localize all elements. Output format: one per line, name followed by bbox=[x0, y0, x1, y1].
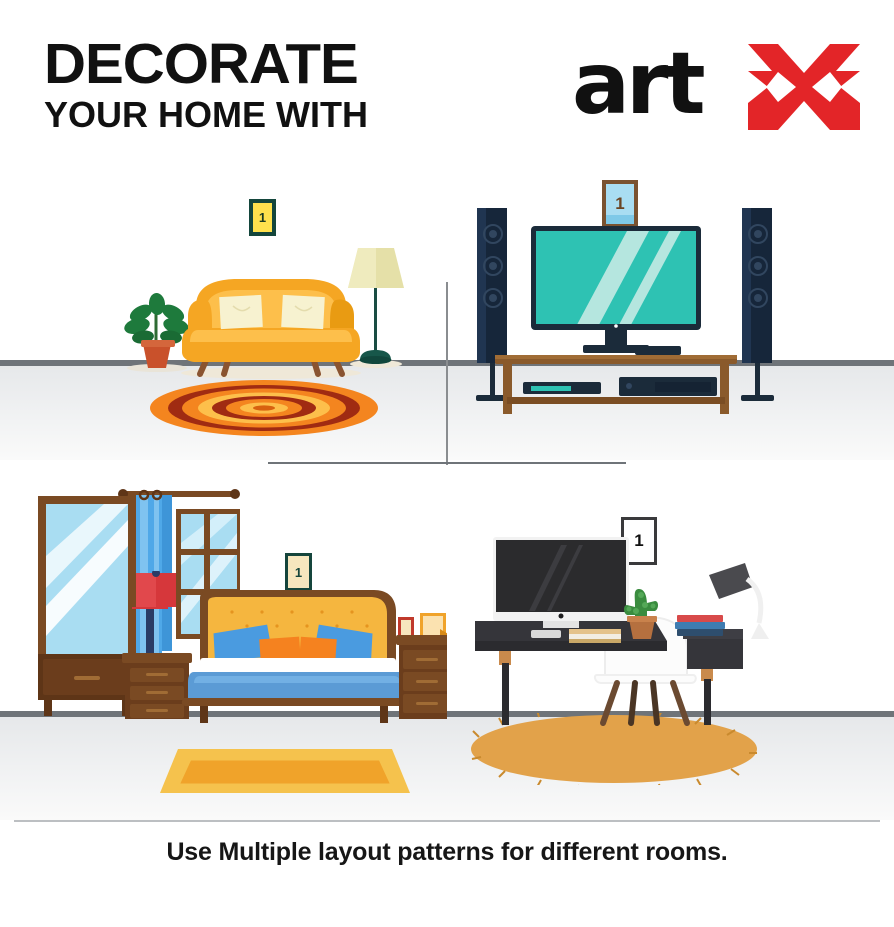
floor-lamp bbox=[342, 240, 410, 368]
poster-canvas: DECORATE YOUR HOME WITH art 1 bbox=[0, 0, 894, 927]
tower-speaker-right bbox=[737, 208, 777, 408]
frame-number: 1 bbox=[259, 210, 266, 225]
wall-art-frame-bedroom[interactable]: 1 bbox=[285, 553, 312, 591]
television[interactable] bbox=[531, 226, 701, 354]
media-console bbox=[495, 355, 737, 417]
brand-logo: art bbox=[572, 36, 862, 136]
monitor[interactable] bbox=[493, 537, 629, 629]
caption-divider bbox=[14, 820, 880, 822]
yellow-sofa bbox=[178, 276, 364, 380]
logo-x-icon bbox=[744, 42, 864, 132]
poster-header: DECORATE YOUR HOME WITH art bbox=[0, 0, 894, 165]
room-tv-room: 1 bbox=[447, 160, 894, 460]
room-home-office: 1 bbox=[447, 465, 894, 820]
frame-number: 1 bbox=[615, 194, 624, 214]
bed bbox=[176, 590, 406, 725]
frame-art-detail bbox=[606, 215, 634, 224]
keyboard bbox=[531, 630, 561, 638]
divider-horizontal bbox=[268, 462, 626, 464]
headline-line-2: YOUR HOME WITH bbox=[44, 98, 368, 132]
nightstand-right bbox=[396, 613, 447, 719]
headline-line-1: DECORATE bbox=[44, 38, 374, 92]
caption-text: Use Multiple layout patterns for differe… bbox=[166, 838, 727, 866]
room-bedroom: 1 bbox=[0, 465, 447, 820]
logo-wordmark: art bbox=[572, 36, 702, 132]
wall-art-frame-tv-room[interactable]: 1 bbox=[602, 180, 638, 228]
frame-mat: 1 bbox=[606, 184, 634, 224]
caption: Use Multiple layout patterns for differe… bbox=[0, 838, 894, 867]
wall-art-frame-living-room[interactable]: 1 bbox=[249, 199, 276, 236]
rectangular-rug bbox=[160, 747, 410, 795]
cactus-plant bbox=[619, 583, 665, 641]
frame-mat: 1 bbox=[253, 203, 272, 232]
round-rug bbox=[150, 380, 378, 436]
room-living-room: 1 bbox=[0, 160, 447, 460]
frame-number: 1 bbox=[634, 531, 643, 551]
frame-mat: 1 bbox=[288, 556, 309, 588]
desk-lamp[interactable] bbox=[705, 561, 773, 643]
book-stack-desk bbox=[569, 627, 621, 643]
headline: DECORATE YOUR HOME WITH bbox=[44, 38, 368, 131]
frame-number: 1 bbox=[295, 565, 302, 580]
